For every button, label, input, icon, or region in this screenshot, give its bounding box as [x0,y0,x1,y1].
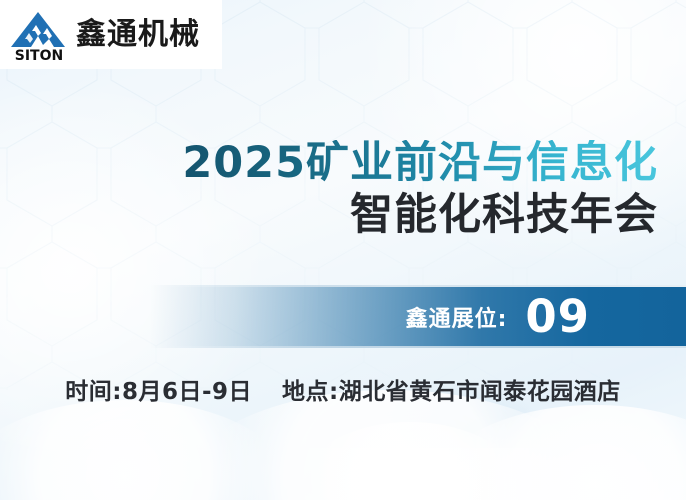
mountain-logo-icon: SITON [8,9,70,61]
cloud-shape [430,405,686,500]
title-line-2: 智能化科技年会 [182,192,658,238]
event-poster: SITON 鑫通机械 2025矿业前沿与信息化 智能化科技年会 鑫通展位: 09… [0,0,686,500]
booth-banner: 鑫通展位: 09 [150,285,686,348]
hexagon-pattern-icon [0,0,686,500]
cloud-shape [300,422,520,500]
event-venue: 地点:湖北省黄石市闻泰花园酒店 [282,372,621,406]
event-meta: 时间:8月6日-9日 地点:湖北省黄石市闻泰花园酒店 [0,372,686,406]
booth-label: 鑫通展位: [406,301,508,333]
cloud-shape [180,390,600,500]
event-date: 时间:8月6日-9日 [65,372,252,406]
logo-chinese-text: 鑫通机械 [76,20,200,50]
cloud-shape [0,400,290,500]
poster-title: 2025矿业前沿与信息化 智能化科技年会 [182,140,658,239]
title-line-1: 2025矿业前沿与信息化 [182,140,658,186]
logo-latin-text: SITON [15,48,63,61]
booth-number: 09 [525,294,590,339]
brand-logo: SITON 鑫通机械 [0,0,222,69]
